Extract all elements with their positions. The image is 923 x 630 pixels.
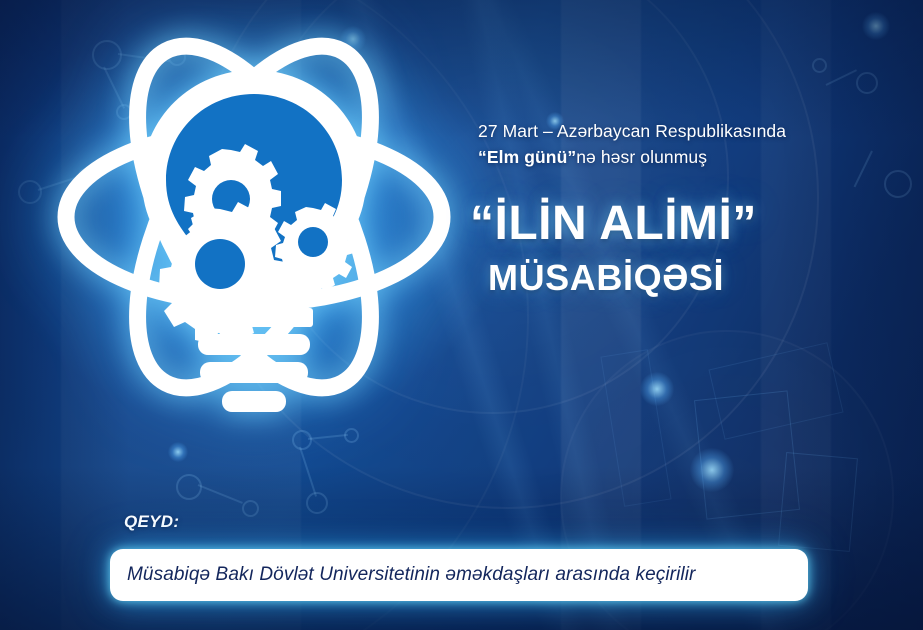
- molecule-node: [812, 58, 827, 73]
- molecule-node: [18, 180, 42, 204]
- note-label: QEYD:: [124, 512, 179, 532]
- kicker-tail-text: nə həsr olunmuş: [576, 147, 707, 167]
- molecule-edge: [198, 484, 243, 504]
- molecule-node: [242, 500, 259, 517]
- glow-dot: [168, 442, 188, 462]
- glow-dot: [690, 448, 734, 492]
- kicker-text-block: 27 Mart – Azərbaycan Respublikasında “El…: [478, 118, 898, 170]
- note-text: Müsabiqə Bakı Dövlət Universitetinin əmə…: [110, 564, 696, 586]
- glow-dot: [640, 372, 674, 406]
- blueprint-rectangle: [600, 349, 671, 507]
- blueprint-rectangle: [778, 452, 858, 552]
- blueprint-rectangle: [708, 342, 843, 440]
- kicker-quoted-text: “Elm günü”: [478, 147, 576, 167]
- note-box: Müsabiqə Bakı Dövlət Universitetinin əmə…: [110, 549, 808, 601]
- molecule-node: [344, 428, 359, 443]
- molecule-edge: [826, 69, 857, 86]
- molecule-node: [292, 430, 312, 450]
- molecule-node: [856, 72, 878, 94]
- molecule-edge: [308, 434, 348, 440]
- lightbulb-atom-gears-logo: [48, 12, 460, 424]
- molecule-node: [176, 474, 202, 500]
- glow-dot: [862, 12, 890, 40]
- page-subtitle: MÜSABİQƏSİ: [488, 256, 910, 300]
- molecule-node: [306, 492, 328, 514]
- kicker-line-1: 27 Mart – Azərbaycan Respublikasında: [478, 118, 898, 144]
- poster-title-block: “İLİN ALİMİ” MÜSABİQƏSİ: [470, 196, 910, 300]
- page-title: “İLİN ALİMİ”: [470, 196, 910, 252]
- blueprint-rectangle: [694, 390, 800, 519]
- kicker-line-2: “Elm günü”nə həsr olunmuş: [478, 144, 898, 170]
- molecule-node: [884, 170, 912, 198]
- molecule-edge: [299, 447, 317, 497]
- poster-canvas: 27 Mart – Azərbaycan Respublikasında “El…: [0, 0, 923, 630]
